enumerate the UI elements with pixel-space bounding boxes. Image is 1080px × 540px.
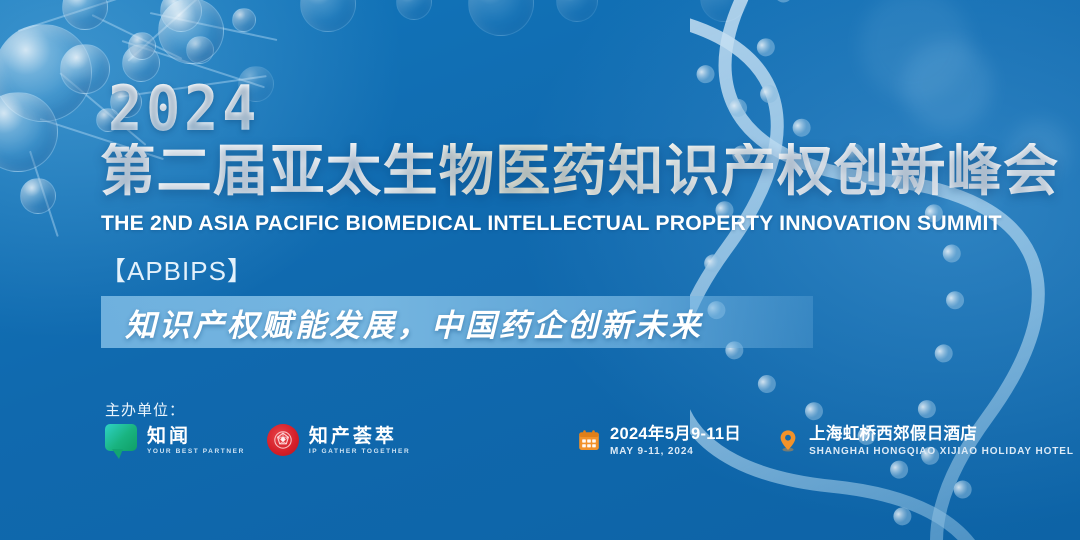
organizer-tagline: IP GATHER TOGETHER xyxy=(309,448,410,456)
event-abbreviation: 【APBIPS】 xyxy=(100,251,254,288)
slogan-text: 知识产权赋能发展，中国药企创新未来 xyxy=(125,300,703,345)
speech-bubble-icon xyxy=(105,424,139,458)
event-venue-block: 上海虹桥西郊假日酒店 SHANGHAI HONGQIAO XIJIAO HOLI… xyxy=(777,424,1074,458)
organizer-name: 知产荟萃 xyxy=(309,426,410,448)
organizer-logo-zhiwen: 知闻 YOUR BEST PARTNER xyxy=(105,424,245,458)
calendar-icon xyxy=(578,429,600,453)
organizers-row: 知闻 YOUR BEST PARTNER xyxy=(105,424,410,458)
organizers-label: 主办单位： xyxy=(105,399,185,420)
organizer-tagline: YOUR BEST PARTNER xyxy=(147,448,245,456)
event-venue: 上海虹桥西郊假日酒店 xyxy=(809,424,1074,445)
conference-banner: 2024 第二届亚太生物医药知识产权创新峰会 THE 2ND ASIA PACI… xyxy=(0,0,1080,540)
event-date-block: 2024年5月9-11日 MAY 9-11, 2024 xyxy=(578,424,741,458)
event-venue-english: SHANGHAI HONGQIAO XIJIAO HOLIDAY HOTEL xyxy=(809,445,1074,459)
page-title: 第二届亚太生物医药知识产权创新峰会 xyxy=(100,143,1059,199)
event-date-english: MAY 9-11, 2024 xyxy=(610,445,741,459)
slogan-bar: 知识产权赋能发展，中国药企创新未来 xyxy=(101,296,813,348)
page-subtitle-english: THE 2ND ASIA PACIFIC BIOMEDICAL INTELLEC… xyxy=(101,211,1002,236)
location-pin-icon xyxy=(777,429,799,453)
banner-content: 2024 第二届亚太生物医药知识产权创新峰会 THE 2ND ASIA PACI… xyxy=(0,0,1080,540)
event-year: 2024 xyxy=(108,78,260,140)
circle-badge-icon xyxy=(267,424,301,458)
organizer-name: 知闻 xyxy=(147,426,245,448)
event-info-row: 2024年5月9-11日 MAY 9-11, 2024 上海虹桥西郊假日酒店 S… xyxy=(578,424,1074,458)
organizer-logo-zhichanhuicui: 知产荟萃 IP GATHER TOGETHER xyxy=(267,424,410,458)
event-date: 2024年5月9-11日 xyxy=(610,424,741,445)
